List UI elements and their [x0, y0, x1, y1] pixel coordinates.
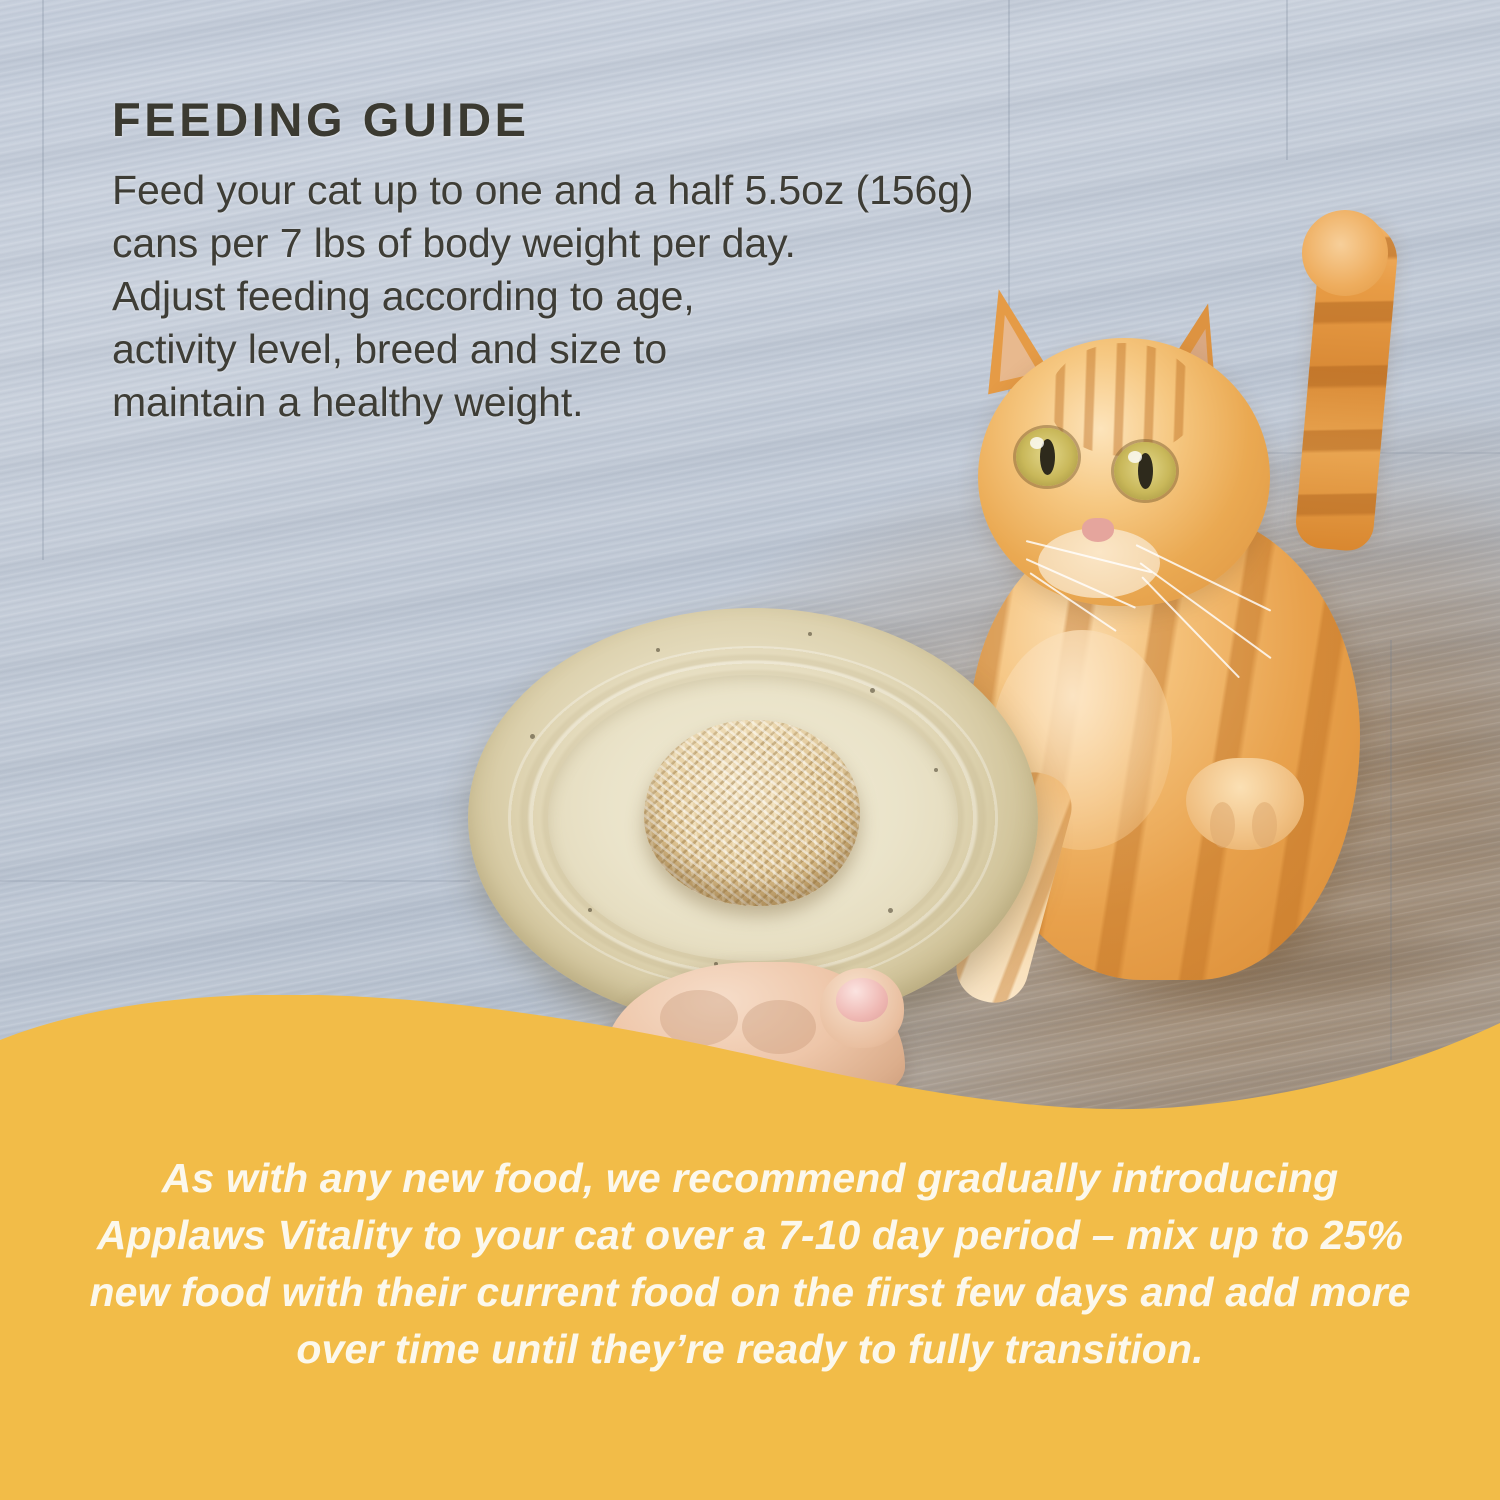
plate-speckle: [934, 768, 938, 772]
feeding-guide-graphic: FEEDING GUIDE Feed your cat up to one an…: [0, 0, 1500, 1500]
plate-speckle: [888, 908, 893, 913]
plate-speckle: [808, 632, 812, 636]
cat-tail-tip: [1302, 210, 1388, 296]
cat-eye-left: [1016, 428, 1078, 486]
cat-eye-highlight: [1030, 437, 1044, 449]
plate-speckle: [588, 908, 592, 912]
plank-seam: [42, 0, 44, 560]
cat-paw: [1186, 758, 1304, 850]
plate-speckle: [656, 648, 660, 652]
paragraph-line: cans per 7 lbs of body weight per day.: [112, 217, 1292, 270]
cat-nose: [1082, 518, 1114, 542]
paragraph-line: activity level, breed and size to: [112, 323, 1292, 376]
banner-message: As with any new food, we recommend gradu…: [0, 1150, 1500, 1378]
plate-speckle: [530, 734, 535, 739]
paragraph-line: Feed your cat up to one and a half 5.5oz…: [112, 164, 1292, 217]
transition-advice-banner: As with any new food, we recommend gradu…: [0, 995, 1500, 1500]
plate-speckle: [870, 688, 875, 693]
plank-seam: [0, 880, 470, 882]
feeding-guide-text-block: FEEDING GUIDE Feed your cat up to one an…: [112, 96, 1312, 428]
paragraph-line: Adjust feeding according to age,: [112, 270, 1292, 323]
feeding-guide-paragraph: Feed your cat up to one and a half 5.5oz…: [112, 164, 1292, 428]
shredded-chicken-food: [644, 720, 860, 906]
cat-eye-highlight: [1128, 451, 1142, 463]
page-title: FEEDING GUIDE: [112, 96, 1312, 143]
paragraph-line: maintain a healthy weight.: [112, 376, 1292, 429]
cat-eye-right: [1114, 442, 1176, 500]
